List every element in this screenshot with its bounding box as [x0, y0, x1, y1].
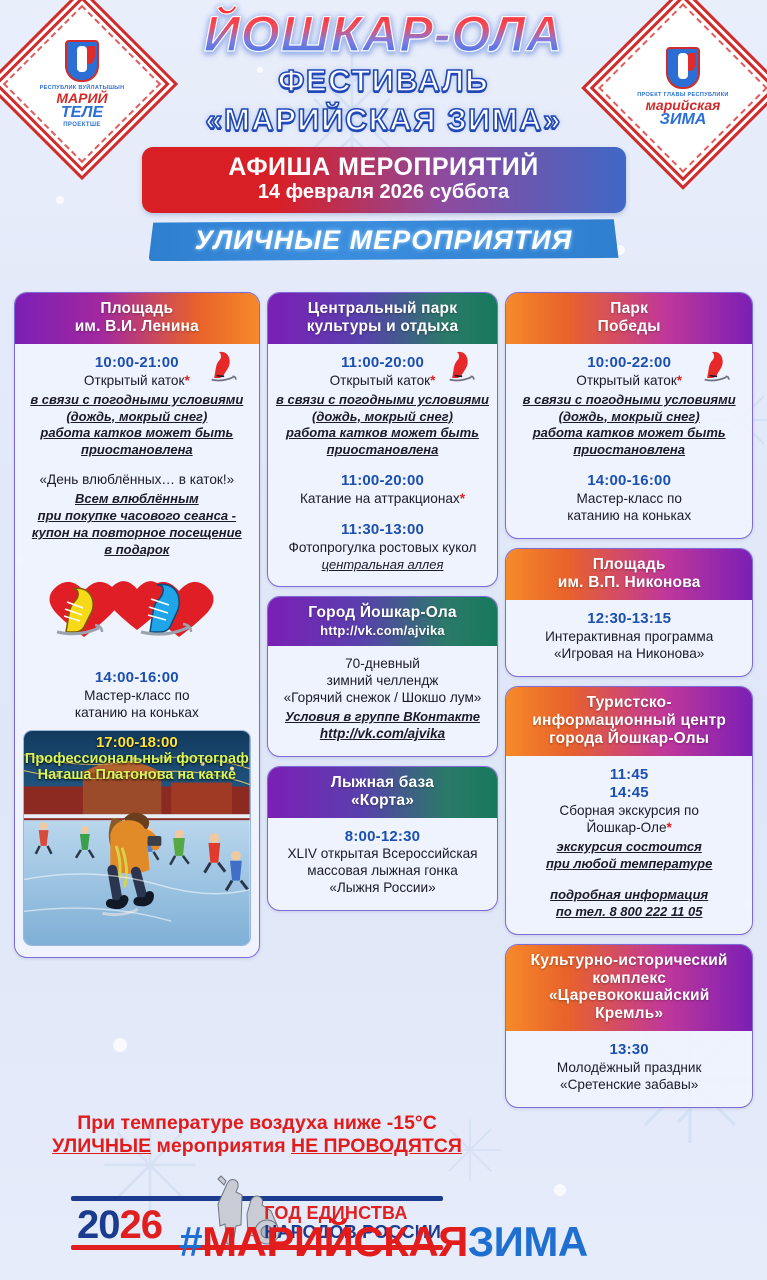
hashtag-word-blue: ЗИМА: [468, 1218, 588, 1265]
event-note-secondary: подробная информацияпо тел. 8 800 222 11…: [514, 887, 744, 921]
event-title: «Игровая на Никонова»: [514, 646, 744, 663]
venue-card-header: ПаркПобеды: [506, 293, 752, 344]
column-1: Площадьим. В.И. Ленина 10:00-21:00Открыт…: [14, 292, 260, 958]
event-note: в связи с погодными условиями(дождь, мок…: [514, 392, 744, 460]
event-time: 13:30: [514, 1041, 744, 1060]
asterisk-marker: *: [184, 373, 189, 388]
venue-card-tourist-info-center: Туристско-информационный центргорода Йош…: [505, 686, 753, 935]
event-title: Йошкар-Оле*: [514, 820, 744, 837]
event-title: катанию на коньках: [514, 508, 744, 525]
temperature-warning: При температуре воздуха ниже -15°С УЛИЧН…: [14, 1112, 500, 1158]
event-time: 11:00-20:00: [276, 472, 490, 491]
venue-card-body: 11:00-20:00Открытый каток*в связи с пого…: [268, 344, 498, 586]
venue-card-central-park: Центральный парккультуры и отдыха 11:00-…: [267, 292, 499, 587]
events-board: Площадьим. В.И. Ленина 10:00-21:00Открыт…: [0, 292, 767, 1108]
warning-street-word: УЛИЧНЫЕ: [52, 1135, 151, 1157]
event-title: Интерактивная программа: [514, 629, 744, 646]
venue-card-body: 13:30Молодёжный праздник«Сретенские заба…: [506, 1031, 752, 1107]
event-title: зимний челлендж: [276, 673, 490, 690]
venue-card-header: Лыжная база«Корта»: [268, 767, 498, 818]
event-time: 11:30-13:00: [276, 521, 490, 540]
event-entry: «День влюблённых… в каток!»Всем влюблённ…: [23, 472, 251, 559]
venue-card-header: Площадьим. В.И. Ленина: [15, 293, 259, 344]
event-note: в связи с погодными условиями(дождь, мок…: [276, 392, 490, 460]
venue-card-body: 12:30-13:15Интерактивная программа«Игров…: [506, 600, 752, 676]
event-title: «Горячий снежок / Шокшо лум»: [276, 690, 490, 707]
hashtag-mariyskaya-zima: #МАРИЙСКАЯЗИМА: [0, 1218, 767, 1266]
event-entry: 14:00-16:00Мастер-класс покатанию на кон…: [23, 669, 251, 722]
event-title: XLIV открытая Всероссийская: [276, 846, 490, 863]
asterisk-marker: *: [460, 491, 465, 506]
poster-header: РЕСПУБЛИК ВУЙЛАТЫШЫН МАРИЙ ТЕЛЕ ПРОЕКТШЕ…: [0, 0, 767, 292]
event-note: в связи с погодными условиями(дождь, мок…: [23, 392, 251, 460]
venue-card-url[interactable]: http://vk.com/ajvika: [274, 623, 492, 638]
event-title: Молодёжный праздник: [514, 1060, 744, 1077]
ice-skate-icon: [443, 348, 483, 388]
venue-card-body: 11:4514:45Сборная экскурсия поЙошкар-Оле…: [506, 756, 752, 934]
event-title: Сборная экскурсия по: [514, 803, 744, 820]
asterisk-marker: *: [667, 820, 672, 835]
event-time: 8:00-12:30: [276, 828, 490, 847]
event-note: экскурсия состоитсяпри любой температуре: [514, 839, 744, 873]
event-title: Мастер-класс по: [514, 491, 744, 508]
event-entry: 13:30Молодёжный праздник«Сретенские заба…: [514, 1041, 744, 1094]
emblem-right-mid2: ЗИМА: [660, 112, 707, 129]
photo-time: 17:00-18:00: [24, 734, 250, 751]
event-title: Катание на аттракционах*: [276, 491, 490, 508]
event-entry: 70-дневныйзимний челлендж«Горячий снежок…: [276, 656, 490, 743]
event-title: «Сретенские забавы»: [514, 1077, 744, 1094]
venue-card-header: Культурно-историческийкомплекс«Царевокок…: [506, 945, 752, 1032]
event-note: Всем влюблённымпри покупке часового сеан…: [23, 491, 251, 559]
event-entry: 12:30-13:15Интерактивная программа«Игров…: [514, 610, 744, 663]
venue-card-body: 70-дневныйзимний челлендж«Горячий снежок…: [268, 646, 498, 756]
venue-card-header: Центральный парккультуры и отдыха: [268, 293, 498, 344]
event-title: Фотопрогулка ростовых кукол: [276, 540, 490, 557]
event-title: массовая лыжная гонка: [276, 863, 490, 880]
event-note: Условия в группе ВКонтакте: [276, 709, 490, 726]
column-2: Центральный парккультуры и отдыха 11:00-…: [267, 292, 499, 911]
emblem-left-mid1: МАРИЙ: [56, 91, 107, 106]
warning-mid-word: мероприятия: [151, 1135, 291, 1157]
warning-not-held: НЕ ПРОВОДЯТСЯ: [291, 1135, 462, 1157]
photo-caption: 17:00-18:00 Профессиональный фотограф На…: [24, 734, 250, 785]
event-time: 12:30-13:15: [514, 610, 744, 629]
photographer-photo-block: 17:00-18:00 Профессиональный фотограф На…: [23, 730, 251, 946]
emblem-left-bottom: ПРОЕКТШЕ: [63, 122, 101, 128]
warning-line-1: При температуре воздуха ниже -15°С: [14, 1112, 500, 1135]
venue-card-victory-park: ПаркПобеды 10:00-22:00Открытый каток*в с…: [505, 292, 753, 539]
venue-card-header: Площадьим. В.П. Никонова: [506, 549, 752, 600]
venue-card-header: Туристско-информационный центргорода Йош…: [506, 687, 752, 756]
venue-card-body: 8:00-12:30XLIV открытая Всероссийскаямас…: [268, 818, 498, 911]
event-entry: 14:00-16:00Мастер-класс покатанию на кон…: [514, 472, 744, 525]
hearts-and-skates-illustration: [29, 569, 244, 665]
venue-card-city-yoshkar-ola: Город Йошкар-Олаhttp://vk.com/ajvika70-д…: [267, 596, 499, 757]
emblem-left-mid2: ТЕЛЕ: [61, 105, 103, 122]
warning-line-2: УЛИЧНЫЕ мероприятия НЕ ПРОВОДЯТСЯ: [14, 1135, 500, 1158]
event-time: 14:00-16:00: [514, 472, 744, 491]
hash-symbol: #: [179, 1218, 202, 1265]
ice-skate-icon: [205, 348, 245, 388]
event-title: катанию на коньках: [23, 705, 251, 722]
playbill-title: АФИША МЕРОПРИЯТИЙ: [152, 154, 616, 180]
event-location-note: центральная аллея: [276, 557, 490, 573]
street-events-banner: УЛИЧНЫЕ МЕРОПРИЯТИЯ: [149, 219, 619, 261]
event-entry: 8:00-12:30XLIV открытая Всероссийскаямас…: [276, 828, 490, 898]
event-time: 14:00-16:00: [23, 669, 251, 688]
event-link[interactable]: http://vk.com/ajvika: [276, 726, 490, 743]
playbill-date: 14 февраля 2026 суббота: [152, 181, 616, 204]
event-title: «Лыжня России»: [276, 880, 490, 897]
column-3: ПаркПобеды 10:00-22:00Открытый каток*в с…: [505, 292, 753, 1108]
venue-card-lenin-square: Площадьим. В.И. Ленина 10:00-21:00Открыт…: [14, 292, 260, 958]
event-entry: 11:00-20:00Катание на аттракционах*: [276, 472, 490, 508]
event-entry: 11:4514:45Сборная экскурсия поЙошкар-Оле…: [514, 766, 744, 921]
ice-skate-icon: [698, 348, 738, 388]
photo-caption-line1: Профессиональный фотограф: [24, 751, 250, 768]
events-playbill-banner: АФИША МЕРОПРИЯТИЙ 14 февраля 2026 суббот…: [142, 147, 626, 213]
event-time: 11:4514:45: [514, 766, 744, 804]
asterisk-marker: *: [677, 373, 682, 388]
event-title: 70-дневный: [276, 656, 490, 673]
emblem-right-mid1: марийская: [646, 98, 721, 113]
venue-card-nikonov-square: Площадьим. В.П. Никонова12:30-13:15Интер…: [505, 548, 753, 677]
event-entry: 11:30-13:00Фотопрогулка ростовых куколце…: [276, 521, 490, 573]
event-title: Мастер-класс по: [23, 688, 251, 705]
venue-card-ski-base-korta: Лыжная база«Корта»8:00-12:30XLIV открыта…: [267, 766, 499, 912]
event-title: «День влюблённых… в каток!»: [23, 472, 251, 489]
street-events-label: УЛИЧНЫЕ МЕРОПРИЯТИЯ: [195, 225, 573, 256]
venue-card-body: 10:00-22:00Открытый каток*в связи с пого…: [506, 344, 752, 538]
photo-caption-line2: Наташа Платонова на катке: [24, 767, 250, 784]
venue-card-body: 10:00-21:00Открытый каток*в связи с пого…: [15, 344, 259, 957]
page-title-city: ЙОШКАР-ОЛА: [0, 6, 767, 59]
venue-card-tsarevokokshaysky-kremlin: Культурно-историческийкомплекс«Царевокок…: [505, 944, 753, 1109]
hashtag-word-red: МАРИЙСКАЯ: [202, 1218, 468, 1265]
venue-card-header: Город Йошкар-Олаhttp://vk.com/ajvika: [268, 597, 498, 646]
asterisk-marker: *: [430, 373, 435, 388]
